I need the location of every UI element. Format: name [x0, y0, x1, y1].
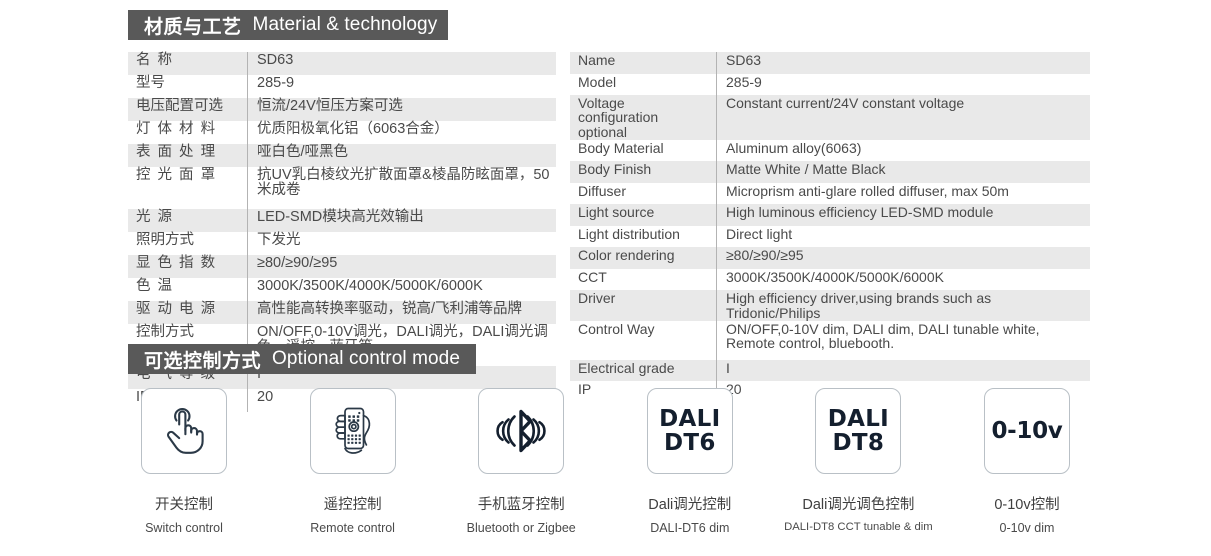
spec-key: Body Finish: [570, 161, 717, 183]
spec-key: Light distribution: [570, 226, 717, 248]
table-row: Light distribution Direct light: [570, 226, 1090, 248]
spec-key: Diffuser: [570, 183, 717, 205]
spec-key: 电压配置可选: [128, 98, 248, 121]
spec-value: 285-9: [717, 74, 1091, 96]
control-mode-label-en: 0-10v dim: [1000, 521, 1055, 535]
spec-value: 抗UV乳白棱纹光扩散面罩&棱晶防眩面罩，50米成卷: [248, 167, 557, 209]
table-row: Electrical grade I: [570, 360, 1090, 382]
dali-dt8-badge: DALI DT8: [828, 407, 889, 455]
spec-value: 3000K/3500K/4000K/5000K/6000K: [717, 269, 1091, 291]
table-row: 显 色 指 数 ≥80/≥90/≥95: [128, 255, 556, 278]
control-mode-card-remote[interactable]: 遥控控制 Remote control: [273, 388, 433, 538]
spec-key: CCT: [570, 269, 717, 291]
control-mode-card-list: 开关控制 Switch control: [104, 388, 1107, 538]
control-mode-label-cn: Dali调光调色控制: [802, 493, 914, 514]
section-header-control-en: Optional control mode: [272, 348, 460, 370]
table-row: Voltage configuration optional Constant …: [570, 95, 1090, 140]
spec-value: LED-SMD模块高光效输出: [248, 209, 557, 232]
spec-key: Light source: [570, 204, 717, 226]
spec-key: 控 光 面 罩: [128, 167, 248, 209]
control-mode-label-en: Switch control: [145, 521, 223, 535]
control-mode-label-cn: 遥控控制: [324, 493, 382, 514]
section-header-control-mode: 可选控制方式 Optional control mode: [128, 344, 476, 374]
control-mode-label-en: DALI-DT8 CCT tunable & dim: [784, 521, 933, 533]
table-row: 表 面 处 理 哑白色/哑黑色: [128, 144, 556, 167]
spec-key: Color rendering: [570, 247, 717, 269]
spec-key: Control Way: [570, 321, 717, 360]
table-row: 灯 体 材 料 优质阳极氧化铝（6063合金）: [128, 121, 556, 144]
table-row: Color rendering ≥80/≥90/≥95: [570, 247, 1090, 269]
zero-to-ten-volt-badge-box[interactable]: 0-10v: [984, 388, 1070, 474]
table-row: Name SD63: [570, 52, 1090, 74]
spec-value: Microprism anti-glare rolled diffuser, m…: [717, 183, 1091, 205]
control-mode-card-0-10v[interactable]: 0-10v 0-10v控制 0-10v dim: [947, 388, 1107, 538]
control-mode-label-en: Bluetooth or Zigbee: [467, 521, 576, 535]
spec-key: 驱 动 电 源: [128, 301, 248, 324]
spec-key: 照明方式: [128, 232, 248, 255]
remote-control-icon-box[interactable]: [310, 388, 396, 474]
section-header-material-en: Material & technology: [253, 14, 438, 36]
control-mode-card-dali-dt8[interactable]: DALI DT8 Dali调光调色控制 DALI-DT8 CCT tunable…: [778, 388, 938, 538]
control-mode-card-dali-dt6[interactable]: DALI DT6 Dali调光控制 DALI-DT6 dim: [610, 388, 770, 538]
table-row: 电压配置可选 恒流/24V恒压方案可选: [128, 98, 556, 121]
spec-value: 285-9: [248, 75, 557, 98]
table-row: 照明方式 下发光: [128, 232, 556, 255]
remote-control-icon: [324, 402, 382, 460]
control-mode-label-en: DALI-DT6 dim: [650, 521, 729, 535]
spec-value: Aluminum alloy(6063): [717, 140, 1091, 162]
table-row: 名 称 SD63: [128, 52, 556, 75]
hand-tap-icon-box[interactable]: [141, 388, 227, 474]
table-row: CCT 3000K/3500K/4000K/5000K/6000K: [570, 269, 1090, 291]
section-header-control-cn: 可选控制方式: [144, 346, 261, 373]
control-mode-label-cn: 开关控制: [155, 493, 213, 514]
control-mode-label-cn: 0-10v控制: [994, 493, 1059, 514]
hand-tap-icon: [156, 403, 212, 459]
control-mode-label-cn: 手机蓝牙控制: [478, 493, 565, 514]
section-header-material: 材质与工艺 Material & technology: [128, 10, 448, 40]
spec-key: 光 源: [128, 209, 248, 232]
spec-value: 哑白色/哑黑色: [248, 144, 557, 167]
zero-to-ten-volt-badge: 0-10v: [991, 418, 1062, 444]
control-mode-card-switch[interactable]: 开关控制 Switch control: [104, 388, 264, 538]
spec-value: Constant current/24V constant voltage: [717, 95, 1091, 140]
spec-key: 显 色 指 数: [128, 255, 248, 278]
table-row: 控 光 面 罩 抗UV乳白棱纹光扩散面罩&棱晶防眩面罩，50米成卷: [128, 167, 556, 209]
bluetooth-signal-icon-box[interactable]: [478, 388, 564, 474]
spec-key: Electrical grade: [570, 360, 717, 382]
dali-dt6-line2: DT6: [659, 431, 720, 455]
table-row: 型号 285-9: [128, 75, 556, 98]
spec-key: Model: [570, 74, 717, 96]
control-mode-label-cn: Dali调光控制: [648, 493, 731, 514]
spec-value: ON/OFF,0-10V dim, DALI dim, DALI tunable…: [717, 321, 1091, 360]
bluetooth-signal-icon: [490, 407, 552, 455]
control-mode-card-bluetooth[interactable]: 手机蓝牙控制 Bluetooth or Zigbee: [441, 388, 601, 538]
table-row: 色 温 3000K/3500K/4000K/5000K/6000K: [128, 278, 556, 301]
spec-value: I: [717, 360, 1091, 382]
spec-value: Matte White / Matte Black: [717, 161, 1091, 183]
spec-key: 型号: [128, 75, 248, 98]
spec-value: Direct light: [717, 226, 1091, 248]
spec-value: SD63: [248, 52, 557, 75]
section-header-material-cn: 材质与工艺: [144, 12, 242, 39]
spec-key: Voltage configuration optional: [570, 95, 717, 140]
spec-key: 色 温: [128, 278, 248, 301]
spec-value: 恒流/24V恒压方案可选: [248, 98, 557, 121]
spec-value: SD63: [717, 52, 1091, 74]
spec-key: Body Material: [570, 140, 717, 162]
dali-dt8-badge-box[interactable]: DALI DT8: [815, 388, 901, 474]
spec-key: Name: [570, 52, 717, 74]
spec-value: 3000K/3500K/4000K/5000K/6000K: [248, 278, 557, 301]
spec-value: ≥80/≥90/≥95: [248, 255, 557, 278]
spec-value: 下发光: [248, 232, 557, 255]
table-row: 光 源 LED-SMD模块高光效输出: [128, 209, 556, 232]
table-row: Control Way ON/OFF,0-10V dim, DALI dim, …: [570, 321, 1090, 360]
dali-dt6-badge: DALI DT6: [659, 407, 720, 455]
spec-value: High efficiency driver,using brands such…: [717, 290, 1091, 321]
table-row: 驱 动 电 源 高性能高转换率驱动，锐高/飞利浦等品牌: [128, 301, 556, 324]
dali-dt8-line1: DALI: [828, 406, 889, 432]
table-row: Model 285-9: [570, 74, 1090, 96]
spec-table-english: Name SD63 Model 285-9 Voltage configurat…: [570, 52, 1090, 403]
table-row: Body Finish Matte White / Matte Black: [570, 161, 1090, 183]
spec-value: ≥80/≥90/≥95: [717, 247, 1091, 269]
dali-dt6-badge-box[interactable]: DALI DT6: [647, 388, 733, 474]
spec-value: 优质阳极氧化铝（6063合金）: [248, 121, 557, 144]
spec-key: Driver: [570, 290, 717, 321]
spec-key: 灯 体 材 料: [128, 121, 248, 144]
spec-value: High luminous efficiency LED-SMD module: [717, 204, 1091, 226]
table-row: Light source High luminous efficiency LE…: [570, 204, 1090, 226]
spec-value: 高性能高转换率驱动，锐高/飞利浦等品牌: [248, 301, 557, 324]
control-mode-label-en: Remote control: [310, 521, 395, 535]
table-row: Diffuser Microprism anti-glare rolled di…: [570, 183, 1090, 205]
table-row: Body Material Aluminum alloy(6063): [570, 140, 1090, 162]
dali-dt8-line2: DT8: [828, 431, 889, 455]
spec-key: 名 称: [128, 52, 248, 75]
dali-dt6-line1: DALI: [659, 406, 720, 432]
table-row: Driver High efficiency driver,using bran…: [570, 290, 1090, 321]
spec-key: 表 面 处 理: [128, 144, 248, 167]
